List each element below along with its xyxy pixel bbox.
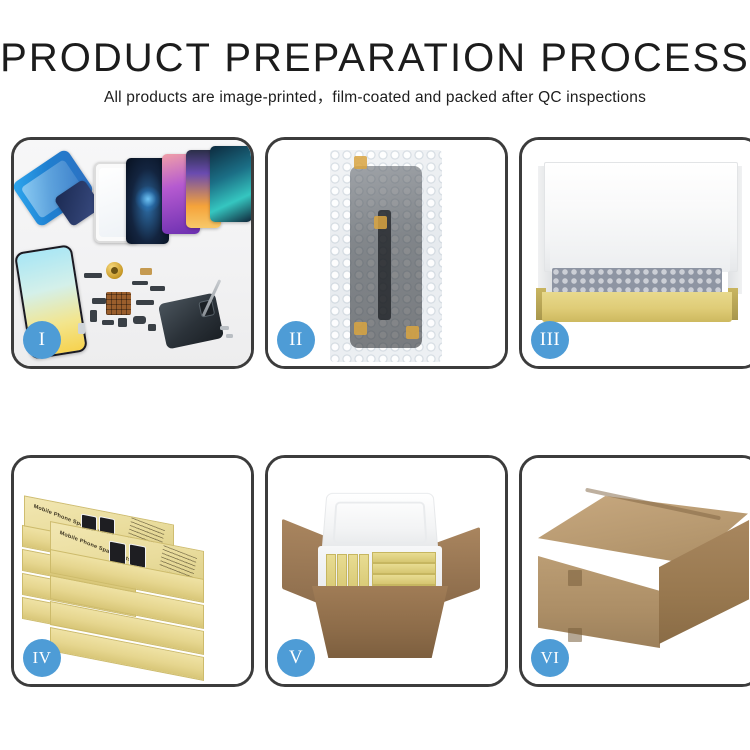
page-title: PRODUCT PREPARATION PROCESS [0, 36, 750, 80]
component-chip-icon [140, 268, 152, 275]
flex-cable-icon [136, 300, 154, 305]
teal-wave-phone-icon [210, 146, 252, 222]
step-badge-2-label: II [289, 329, 303, 350]
step-badge-1-label: I [39, 329, 46, 350]
step-badge-6-label: VI [541, 648, 560, 667]
component-chip-icon [133, 316, 146, 324]
component-chip-icon [132, 281, 148, 285]
step-6-image: VI [522, 458, 750, 684]
tape-piece-icon [354, 156, 367, 169]
component-chip-icon [102, 320, 114, 325]
step-5-image: V [268, 458, 505, 684]
screw-icon [226, 334, 233, 338]
step-1-image: I [14, 140, 251, 366]
step-badge-6: VI [531, 639, 569, 677]
copper-shield-plate-icon [106, 292, 131, 315]
component-chip-icon [78, 323, 85, 334]
step-panel-3: III [519, 137, 750, 369]
packed-yellow-box [372, 574, 436, 585]
step-badge-3: III [531, 321, 569, 359]
product-preparation-infographic: PRODUCT PREPARATION PROCESS All products… [0, 0, 750, 750]
packed-yellow-box [372, 563, 436, 574]
speaker-ring-icon [106, 262, 123, 279]
step-4-image: Mobile Phone Spare Parts Mobile Phone Sp… [14, 458, 251, 684]
packed-yellow-box [372, 552, 436, 563]
white-foam-sheet-icon [550, 200, 730, 272]
foam-lid-icon [321, 493, 438, 554]
tape-piece-icon [374, 216, 387, 229]
step-panel-5: V [265, 455, 508, 687]
carton-hand-hole-icon [568, 628, 582, 642]
step-badge-5: V [277, 639, 315, 677]
tape-piece-icon [354, 322, 367, 335]
step-2-image: II [268, 140, 505, 366]
flex-cable-icon [150, 286, 165, 291]
bubble-wrap-bag-icon [330, 150, 442, 362]
step-3-image: III [522, 140, 750, 366]
process-steps-grid: I II [11, 137, 741, 702]
step-panel-1: I [11, 137, 254, 369]
step-panel-6: VI [519, 455, 750, 687]
yellow-box-front-icon [542, 292, 732, 322]
step-panel-4: Mobile Phone Spare Parts Mobile Phone Sp… [11, 455, 254, 687]
step-badge-1: I [23, 321, 61, 359]
component-chip-icon [90, 310, 97, 322]
component-chip-icon [148, 324, 156, 331]
carton-body-icon [312, 586, 448, 658]
component-chip-icon [92, 298, 106, 304]
header: PRODUCT PREPARATION PROCESS All products… [0, 36, 750, 108]
step-panel-2: II [265, 137, 508, 369]
tape-piece-icon [406, 326, 419, 339]
carton-hand-hole-icon [568, 570, 582, 586]
step-badge-5-label: V [289, 647, 303, 668]
page-subtitle: All products are image-printed，film-coat… [0, 88, 750, 108]
component-chip-icon [84, 273, 102, 278]
step-badge-4-label: IV [33, 648, 52, 667]
step-badge-4: IV [23, 639, 61, 677]
step-badge-2: II [277, 321, 315, 359]
component-chip-icon [118, 318, 127, 327]
screw-icon [220, 326, 229, 330]
step-badge-3-label: III [540, 329, 560, 350]
